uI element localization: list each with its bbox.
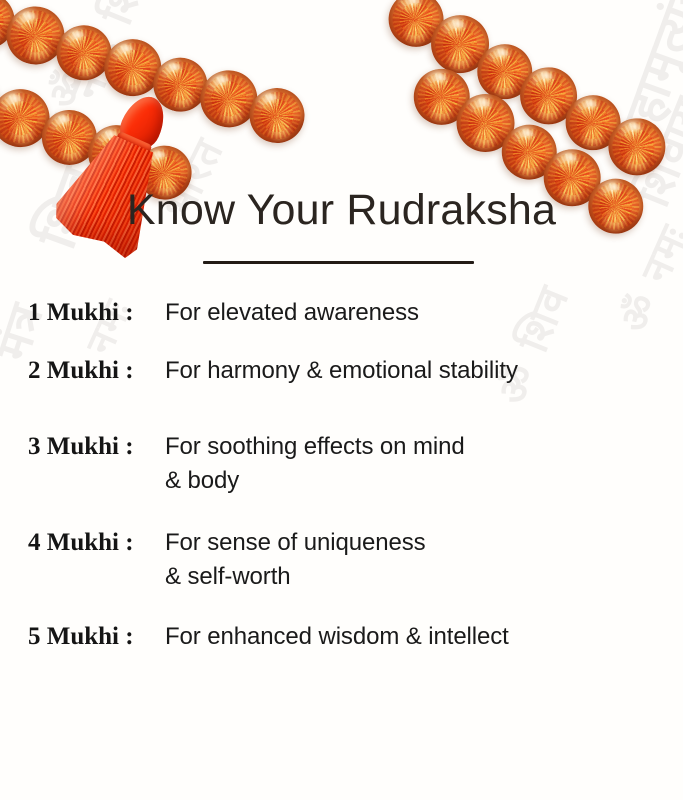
list-item: 4 Mukhi : For sense of uniqueness & self…: [0, 526, 683, 594]
rudraksha-bead: [242, 81, 311, 150]
rudraksha-bead: [0, 0, 22, 56]
rudraksha-bead: [556, 85, 631, 160]
rudraksha-bead: [0, 66, 8, 138]
mala-strand-left-upper: [0, 0, 369, 170]
rudraksha-bead: [467, 34, 542, 109]
rudraksha-bead: [491, 114, 567, 190]
rudraksha-bead: [49, 18, 118, 87]
rudraksha-bead: [193, 63, 265, 135]
mukhi-label: 2 Mukhi :: [28, 354, 165, 388]
rudraksha-bead: [420, 5, 499, 84]
rudraksha-bead: [0, 0, 72, 72]
rudraksha-bead: [403, 58, 480, 135]
page-title: Know Your Rudraksha: [0, 186, 683, 235]
list-item: 2 Mukhi : For harmony & emotional stabil…: [0, 354, 683, 388]
watermark-text: महामृत्युंजय: [597, 0, 683, 160]
mukhi-label: 4 Mukhi :: [28, 526, 165, 560]
list-item: 1 Mukhi : For elevated awareness: [0, 296, 683, 330]
list-item: 5 Mukhi : For enhanced wisdom & intellec…: [0, 620, 683, 654]
mukhi-description: For elevated awareness: [165, 296, 683, 330]
rudraksha-bead: [510, 57, 588, 135]
red-tassel: [47, 79, 196, 263]
mukhi-list: 1 Mukhi : For elevated awareness 2 Mukhi…: [0, 296, 683, 654]
list-item: 3 Mukhi : For soothing effects on mind &…: [0, 430, 683, 498]
watermark-text: ॐ: [32, 59, 98, 117]
mukhi-label: 3 Mukhi :: [28, 430, 165, 464]
rudraksha-bead: [379, 0, 454, 57]
mukhi-description: For sense of uniqueness & self-worth: [165, 526, 683, 594]
rudraksha-bead: [446, 83, 526, 163]
title-divider: [203, 261, 474, 264]
mukhi-description: For soothing effects on mind & body: [165, 430, 683, 498]
mukhi-label: 5 Mukhi :: [28, 620, 165, 654]
rudraksha-bead: [598, 108, 676, 186]
rudraksha-bead: [0, 81, 58, 155]
rudraksha-infographic-poster: ॐ नमः शिवाय शिव ॐ मंत्र नमः भारत ॐ शिव म…: [0, 0, 683, 800]
mukhi-description: For enhanced wisdom & intellect: [165, 620, 683, 654]
mala-strand-right-upper: [377, 0, 683, 202]
mukhi-description: For harmony & emotional stability: [165, 354, 683, 388]
mukhi-label: 1 Mukhi :: [28, 296, 165, 330]
